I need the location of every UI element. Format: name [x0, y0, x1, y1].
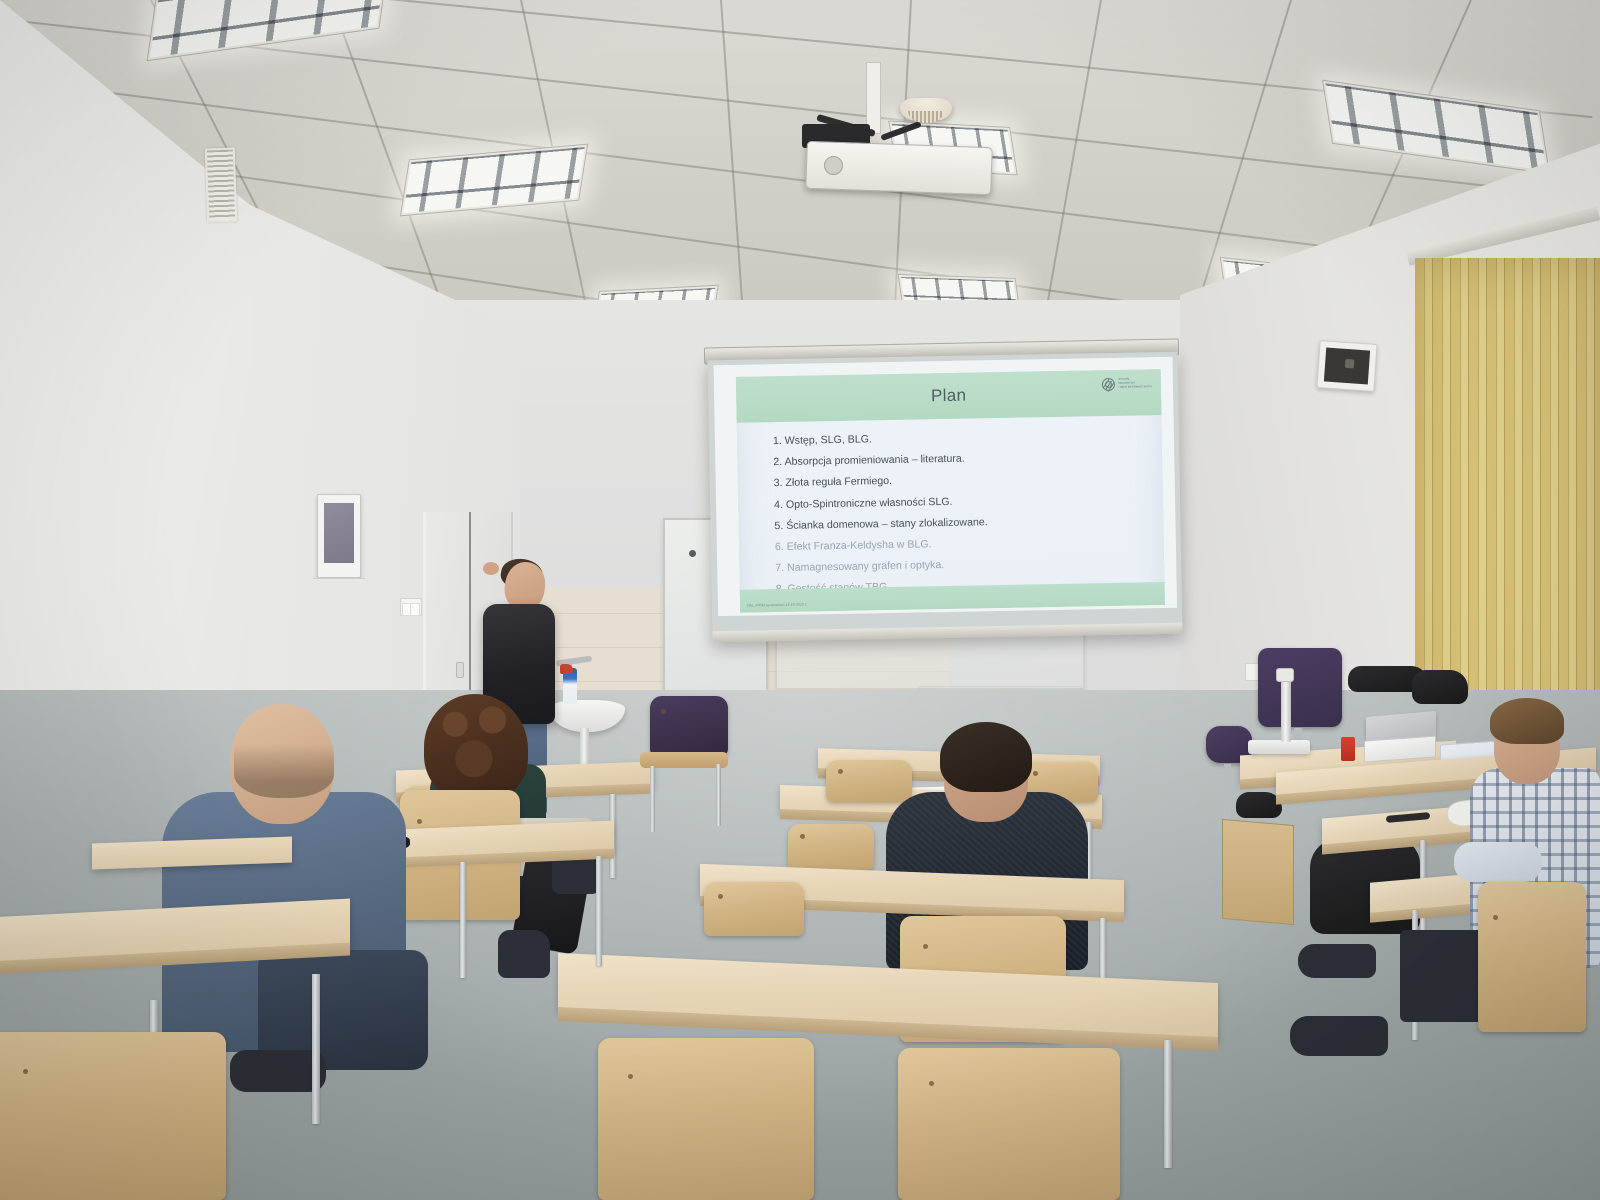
student-desk — [92, 840, 292, 866]
slide-header: Plan WYDZIAŁ MATEMATYKI I NAUK INFORMACY… — [736, 369, 1162, 423]
wall-speaker — [1316, 340, 1377, 392]
projector-mount-pole — [866, 62, 881, 134]
slide-list-item: 7. Namagnesowany grafen i optyka. — [775, 555, 1164, 574]
door-handle[interactable] — [456, 662, 464, 678]
shoe — [1290, 1016, 1388, 1056]
desk-leg — [460, 862, 466, 978]
wall-control-panel[interactable] — [317, 494, 361, 578]
chair-leg — [650, 766, 655, 832]
chair-backrest — [704, 882, 804, 936]
attendee-hair-fringe — [234, 744, 334, 798]
chair-backrest — [1478, 882, 1586, 1032]
presenter-person — [483, 562, 499, 575]
boot — [498, 930, 550, 978]
chair-leg — [716, 764, 721, 826]
chair[interactable] — [1478, 882, 1586, 1032]
ventilation-grille — [205, 147, 238, 222]
black-bag-on-desk[interactable] — [1412, 670, 1468, 704]
slide-list-item: 3. Złota reguła Fermiego. — [774, 470, 1163, 489]
logo-line-3: I NAUK INFORMACYJNYCH — [1118, 386, 1152, 390]
speaker-grille — [1324, 348, 1370, 385]
chair[interactable] — [650, 696, 728, 756]
attendee-hair — [1490, 698, 1564, 744]
chair-backrest — [0, 1032, 226, 1200]
whiteboard-magnet — [689, 550, 696, 557]
presentation-slide: Plan WYDZIAŁ MATEMATYKI I NAUK INFORMACY… — [736, 369, 1165, 613]
chair-backrest — [650, 696, 728, 756]
panel-ledge — [313, 578, 365, 584]
cardboard-box — [1222, 819, 1294, 925]
chair-backrest — [598, 1038, 814, 1200]
slide-list-item: 2. Absorpcja promieniowania – literatura… — [773, 449, 1162, 468]
attendee-hair — [424, 694, 528, 802]
attendee-arm — [1454, 842, 1542, 882]
spray-bottle-trigger[interactable] — [560, 664, 573, 674]
desk-leg — [312, 974, 320, 1124]
office-chair-back — [1258, 648, 1342, 727]
projector-lens — [824, 156, 843, 175]
desk-leg — [596, 856, 602, 966]
light-switch-plate[interactable] — [400, 598, 422, 616]
shoe — [1298, 944, 1376, 978]
seminar-room-photo: Plan WYDZIAŁ MATEMATYKI I NAUK INFORMACY… — [0, 0, 1600, 1200]
chair-backrest — [788, 824, 874, 870]
document-camera-arm — [1281, 676, 1291, 742]
control-panel-display — [324, 503, 354, 563]
chair[interactable] — [898, 1048, 1120, 1200]
slide-body: 1. Wstęp, SLG, BLG. 2. Absorpcja promien… — [737, 415, 1165, 596]
slide-list-item: 6. Efekt Franza-Keldysha w BLG. — [775, 534, 1164, 553]
chair-backrest — [826, 760, 912, 802]
red-can[interactable] — [1341, 737, 1355, 761]
slide-list-item: 1. Wstęp, SLG, BLG. — [773, 428, 1162, 447]
document-camera-head — [1276, 668, 1294, 682]
smoke-detector — [900, 98, 952, 120]
logo-emblem-icon — [1102, 378, 1115, 391]
desk-leg — [1164, 1040, 1172, 1168]
screen-surface: Plan WYDZIAŁ MATEMATYKI I NAUK INFORMACY… — [714, 357, 1178, 616]
chair[interactable] — [0, 1032, 226, 1200]
slide-list-item: 5. Ścianka domenowa – stany zlokalizowan… — [774, 513, 1163, 532]
chair[interactable] — [598, 1038, 814, 1200]
attendee-hair — [940, 722, 1032, 792]
chair[interactable] — [788, 824, 874, 870]
chair-backrest — [898, 1048, 1120, 1200]
presenter-hand — [483, 562, 499, 575]
chair[interactable] — [704, 882, 804, 936]
slide-list-item: 4. Opto-Spintroniczne własności SLG. — [774, 492, 1163, 511]
logo-wordmark: WYDZIAŁ MATEMATYKI I NAUK INFORMACYJNYCH — [1118, 378, 1152, 390]
office-chair-post — [1224, 764, 1231, 826]
slide-title: Plan — [931, 386, 967, 407]
university-logo: WYDZIAŁ MATEMATYKI I NAUK INFORMACYJNYCH — [1102, 377, 1152, 391]
document-camera-base[interactable] — [1248, 740, 1310, 754]
projection-screen: Plan WYDZIAŁ MATEMATYKI I NAUK INFORMACY… — [707, 352, 1182, 643]
chair[interactable] — [826, 760, 912, 802]
